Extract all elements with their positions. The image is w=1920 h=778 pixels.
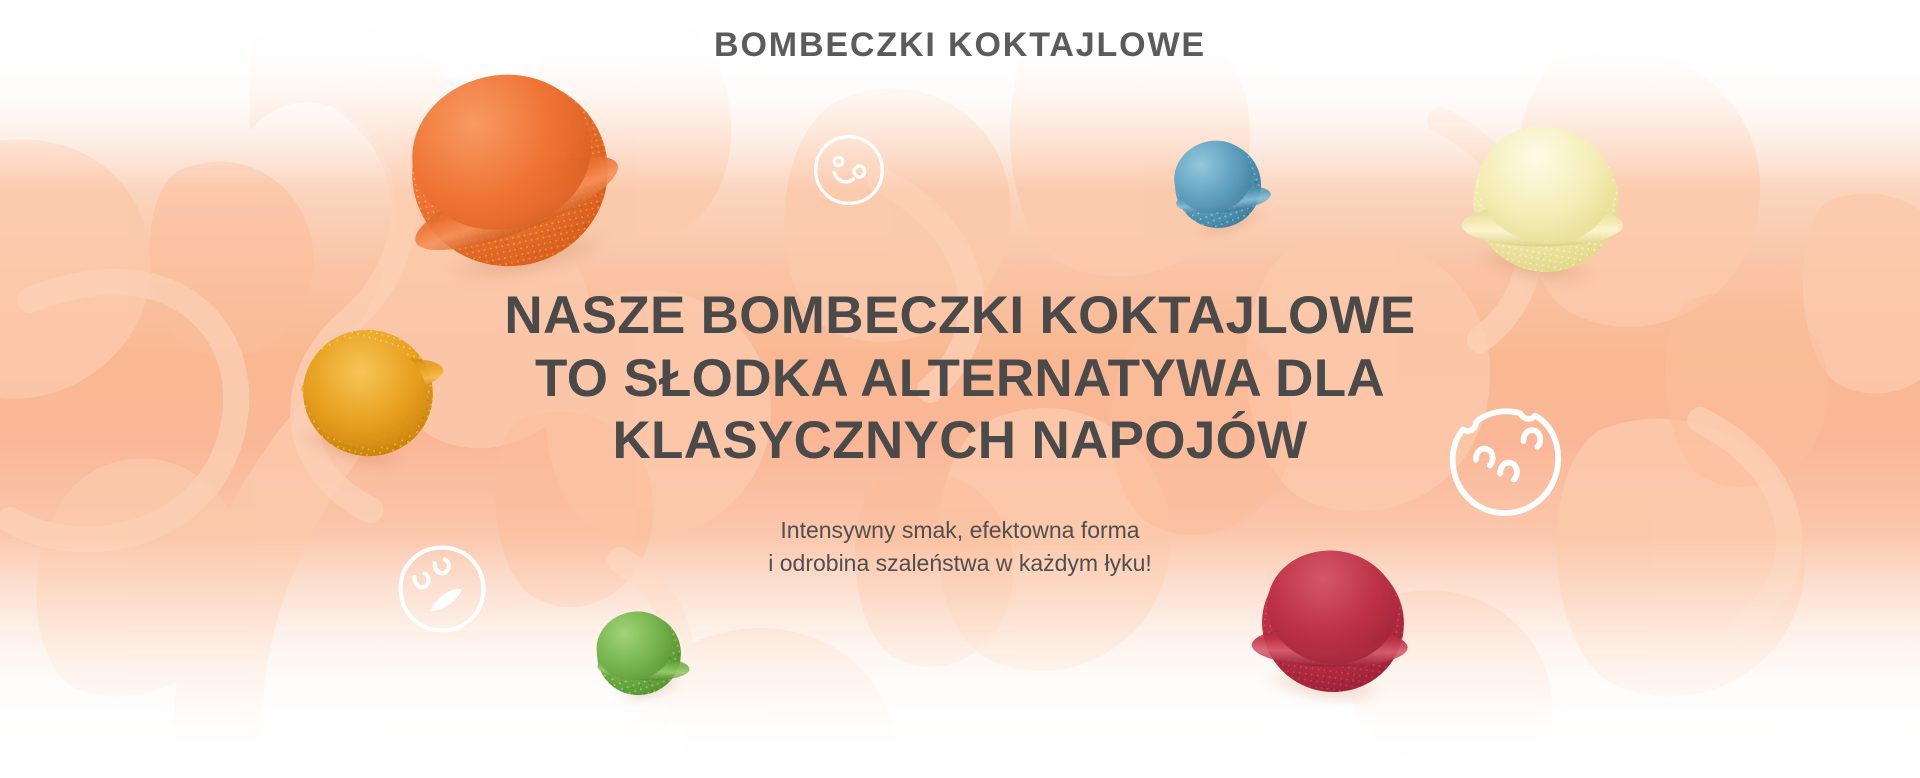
subtitle-line-1: Intensywny smak, efektowna forma [0,514,1920,547]
headline-line-3: KLASYCZNYCH NAPOJÓW [0,410,1920,473]
eyebrow-title: BOMBECZKI KOKTAJLOWE [0,26,1920,65]
page-subtitle: Intensywny smak, efektowna forma i odrob… [0,514,1920,579]
headline-line-2: TO SŁODKA ALTERNATYWA DLA [0,348,1920,411]
bath-bomb-orange [395,60,626,285]
subtitle-line-2: i odrobina szaleństwa w każdym łyku! [0,547,1920,580]
bath-bomb-yellow [1462,118,1630,283]
page-title: NASZE BOMBECZKI KOKTAJLOWE TO SŁODKA ALT… [0,285,1920,473]
hero-banner: BOMBECZKI KOKTAJLOWE NASZE BOMBECZKI KOK… [0,0,1920,778]
headline-line-1: NASZE BOMBECZKI KOKTAJLOWE [0,285,1920,348]
smiley-face-small-top [812,133,886,207]
